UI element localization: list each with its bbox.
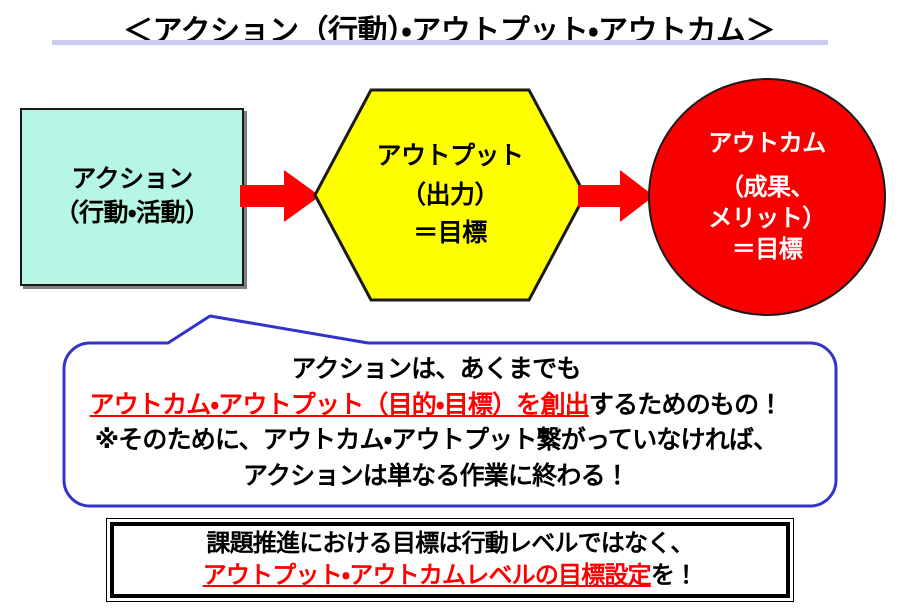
output-hexagon (313, 88, 587, 302)
bottom-emphasis-box: 課題推進における目標は行動レベルではなく、 アウトプット・アウトカムレベルの目標… (110, 522, 790, 598)
action-box: アクション （行動・活動） (20, 108, 244, 286)
slide-canvas: ＜アクション（行動）・アウトプット・アウトカム＞ アクション （行動・活動） ア… (0, 0, 898, 616)
bottom-box-line-1: 課題推進における目標は行動レベルではなく、 (206, 528, 693, 560)
bottom-box-line-2: アウトプット・アウトカムレベルの目標設定を！ (203, 560, 698, 592)
bottom-box-line-2-tail: を！ (651, 562, 697, 589)
action-box-line-1: アクション (71, 163, 192, 197)
title-underline-rule (52, 40, 828, 45)
right-arrow-icon-1 (240, 168, 322, 224)
action-box-line-2: （行動・活動） (54, 197, 209, 231)
bottom-box-line-2-highlight: アウトプット・アウトカムレベルの目標設定 (203, 562, 651, 589)
outcome-ellipse (648, 78, 886, 316)
callout-bubble (28, 308, 844, 516)
right-arrow-icon-2 (578, 168, 656, 224)
